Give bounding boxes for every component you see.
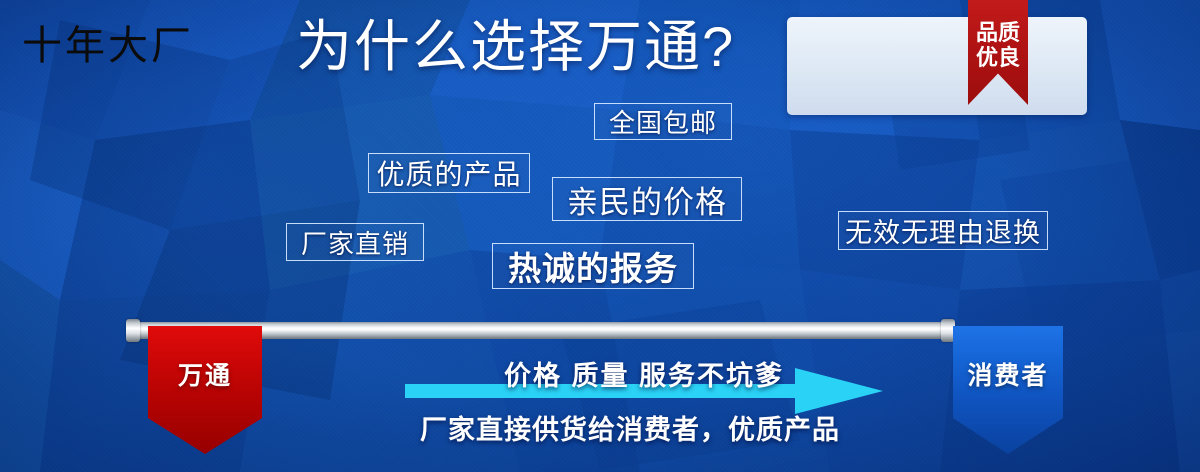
- slogan-bottom-text: 厂家直接供货给消费者，优质产品: [395, 408, 865, 447]
- ten-year-factory-badge: [787, 17, 1087, 115]
- rod-cap-left-icon: [126, 319, 140, 342]
- promo-banner: 为什么选择万通? 十年大厂 品质 优良 全国包邮 优质的产品 亲民的价格 厂家直…: [0, 0, 1200, 472]
- ribbon-line-1: 品质: [971, 20, 1025, 45]
- tag-no-reason-return: 无效无理由退换: [838, 211, 1048, 250]
- tag-nationwide-free-shipping: 全国包邮: [594, 103, 732, 140]
- tag-affordable-price: 亲民的价格: [552, 177, 742, 221]
- ribbon-line-2: 优良: [971, 45, 1025, 70]
- rod-cap-right-icon: [941, 319, 955, 342]
- badge-label: 十年大厂: [22, 26, 194, 66]
- page-title: 为什么选择万通?: [296, 16, 735, 78]
- slogan-top-text: 价格 质量 服务不坑爹: [405, 354, 883, 393]
- tag-quality-products: 优质的产品: [368, 153, 530, 193]
- manufacturer-flag-label: 万通: [178, 356, 232, 392]
- quality-ribbon-label: 品质 优良: [971, 20, 1025, 70]
- consumer-flag-label: 消费者: [967, 356, 1048, 392]
- tag-factory-direct-sales: 厂家直销: [286, 223, 424, 261]
- tag-sincere-service: 热诚的报务: [492, 243, 694, 289]
